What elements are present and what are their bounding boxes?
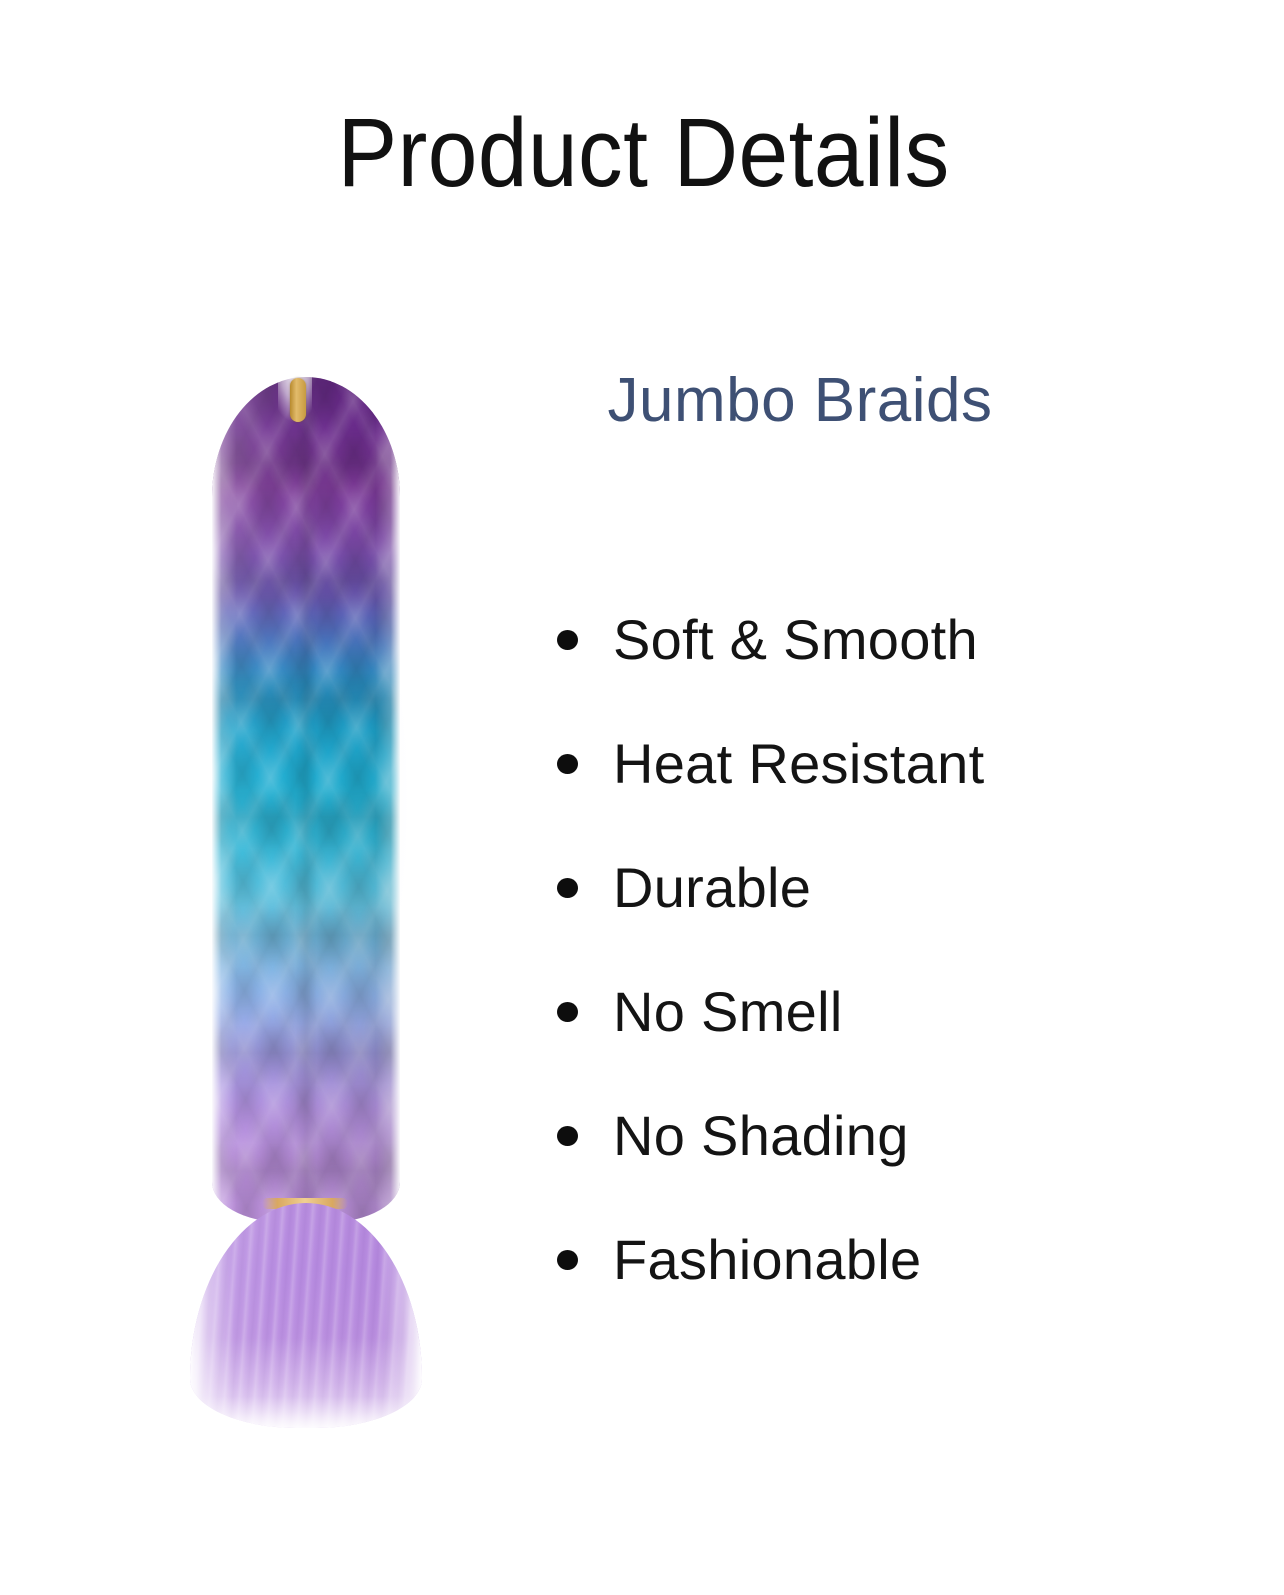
- tail-edge-feather: [190, 1203, 422, 1428]
- product-details-page: Product Details Jumbo Braids Soft & Smoo…: [0, 0, 1284, 1595]
- feature-label: Heat Resistant: [613, 736, 984, 792]
- product-image-braid: [150, 365, 470, 1440]
- feature-item-no-shading: No Shading: [557, 1074, 1197, 1198]
- feature-label: Soft & Smooth: [613, 612, 978, 668]
- feature-item-no-smell: No Smell: [557, 950, 1197, 1074]
- product-heading: Jumbo Braids: [400, 370, 1200, 432]
- feature-label: No Smell: [613, 984, 843, 1040]
- bullet-icon: [557, 1002, 578, 1022]
- product-info-column: Jumbo Braids Soft & Smooth Heat Resistan…: [500, 370, 1200, 432]
- feature-label: Durable: [613, 860, 811, 916]
- bullet-icon: [557, 630, 578, 650]
- feature-label: Fashionable: [613, 1232, 921, 1288]
- bullet-icon: [557, 754, 578, 774]
- bullet-icon: [557, 1126, 578, 1146]
- feature-item-heat-resistant: Heat Resistant: [557, 702, 1197, 826]
- feature-list: Soft & Smooth Heat Resistant Durable No …: [557, 578, 1197, 1322]
- bullet-icon: [557, 878, 578, 898]
- braid-loose-tail: [190, 1203, 422, 1428]
- elastic-band-top-icon: [290, 378, 306, 422]
- braid-body: [212, 377, 400, 1222]
- feature-item-durable: Durable: [557, 826, 1197, 950]
- page-title: Product Details: [53, 104, 1234, 201]
- feature-item-fashionable: Fashionable: [557, 1198, 1197, 1322]
- feature-item-soft-smooth: Soft & Smooth: [557, 578, 1197, 702]
- feature-label: No Shading: [613, 1108, 909, 1164]
- braid-edge-feather: [212, 377, 400, 1222]
- bullet-icon: [557, 1250, 578, 1270]
